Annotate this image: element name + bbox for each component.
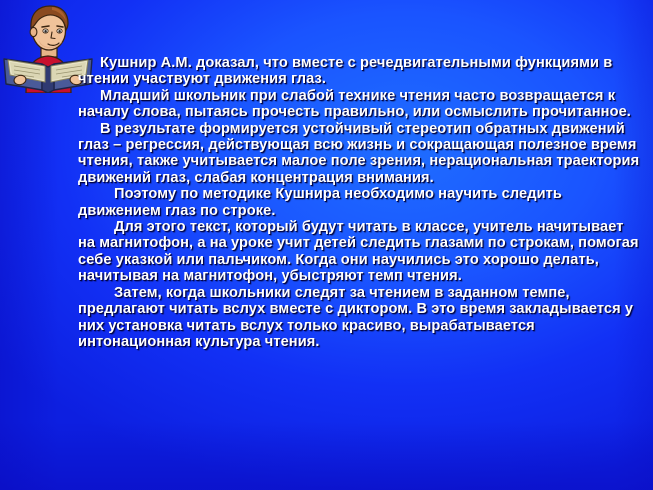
- paragraph-2: Младший школьник при слабой технике чтен…: [78, 88, 643, 121]
- paragraph-5: Для этого текст, который будут читать в …: [78, 219, 643, 285]
- presentation-slide: Кушнир А.М. доказал, что вместе с речедв…: [0, 0, 653, 490]
- slide-text-body: Кушнир А.М. доказал, что вместе с речедв…: [78, 55, 643, 350]
- paragraph-6: Затем, когда школьники следят за чтением…: [78, 285, 643, 351]
- paragraph-1: Кушнир А.М. доказал, что вместе с речедв…: [78, 55, 643, 88]
- paragraph-4: Поэтому по методике Кушнира необходимо н…: [78, 186, 643, 219]
- paragraph-3: В результате формируется устойчивый стер…: [78, 121, 643, 187]
